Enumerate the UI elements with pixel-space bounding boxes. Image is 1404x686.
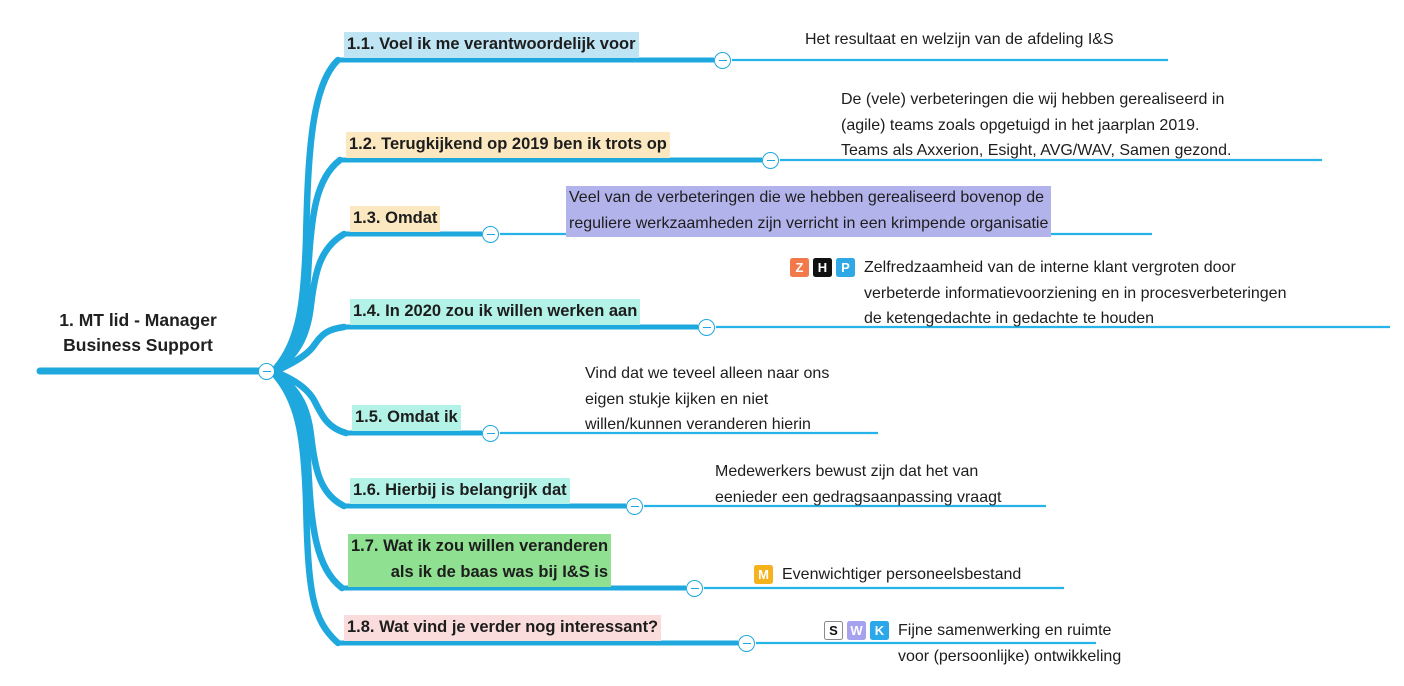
branch-node-1-1[interactable]: 1.1. Voel ik me verantwoordelijk voor: [344, 32, 639, 58]
branch-node-1-6[interactable]: 1.6. Hierbij is belangrijk dat: [350, 478, 570, 504]
leaf-line: (agile) teams zoals opgetuigd in het jaa…: [838, 114, 1234, 140]
collapse-toggle-1-3[interactable]: [482, 226, 499, 243]
branch-label-1-1: 1.1. Voel ik me verantwoordelijk voor: [344, 32, 639, 58]
collapse-toggle-1-6[interactable]: [626, 498, 643, 515]
badge-icon-h[interactable]: H: [813, 258, 832, 277]
leaf-line: Zelfredzaamheid van de interne klant ver…: [861, 256, 1289, 282]
branch-label-1-5: 1.5. Omdat ik: [352, 405, 461, 431]
branch-label-1-2: 1.2. Terugkijkend op 2019 ben ik trots o…: [346, 132, 670, 158]
leaf-line: willen/kunnen veranderen hierin: [582, 413, 832, 439]
leaf-line: Medewerkers bewust zijn dat het van: [712, 460, 1004, 486]
leaf-line: verbeterde informatievoorziening en in p…: [861, 282, 1289, 308]
leaf-node-1-5[interactable]: Vind dat we teveel alleen naar ons eigen…: [582, 362, 832, 439]
branch-label-1-8: 1.8. Wat vind je verder nog interessant?: [344, 615, 661, 641]
leaf-line: Vind dat we teveel alleen naar ons: [582, 362, 832, 388]
branch-label-1-6: 1.6. Hierbij is belangrijk dat: [350, 478, 570, 504]
collapse-toggle-1-7[interactable]: [686, 580, 703, 597]
mindmap-canvas: 1. MT lid - Manager Business Support 1.1…: [0, 0, 1404, 686]
collapse-toggle-1-8[interactable]: [738, 635, 755, 652]
branch-label-1-7-line2: als ik de baas was bij I&S is: [348, 560, 611, 586]
badge-icon-p[interactable]: P: [836, 258, 855, 277]
branch-label-1-4: 1.4. In 2020 zou ik willen werken aan: [350, 299, 640, 325]
badge-icon-m[interactable]: M: [754, 565, 773, 584]
badge-icon-z[interactable]: Z: [790, 258, 809, 277]
leaf-line: Fijne samenwerking en ruimte: [895, 619, 1124, 645]
leaf-line: Teams als Axxerion, Esight, AVG/WAV, Sam…: [838, 139, 1234, 165]
leaf-node-1-2[interactable]: De (vele) verbeteringen die wij hebben g…: [838, 88, 1234, 165]
branch-node-1-4[interactable]: 1.4. In 2020 zou ik willen werken aan: [350, 299, 640, 325]
collapse-toggle-1-1[interactable]: [714, 52, 731, 69]
branch-node-1-2[interactable]: 1.2. Terugkijkend op 2019 ben ik trots o…: [346, 132, 670, 158]
badge-icon-k[interactable]: K: [870, 621, 889, 640]
icon-group-1-7: M: [754, 563, 773, 584]
badge-icon-w[interactable]: W: [847, 621, 866, 640]
collapse-toggle-1-5[interactable]: [482, 425, 499, 442]
branch-label-1-7-line1: 1.7. Wat ik zou willen veranderen: [348, 534, 611, 560]
branch-node-1-5[interactable]: 1.5. Omdat ik: [352, 405, 461, 431]
collapse-toggle-root[interactable]: [258, 363, 275, 380]
leaf-node-1-7[interactable]: M Evenwichtiger personeelsbestand: [754, 563, 1024, 589]
branch-label-1-3: 1.3. Omdat: [350, 206, 440, 232]
branch-node-1-3[interactable]: 1.3. Omdat: [350, 206, 440, 232]
branch-node-1-7[interactable]: 1.7. Wat ik zou willen veranderen als ik…: [348, 534, 611, 587]
icon-group-1-8: S W K: [824, 619, 889, 640]
leaf-line: De (vele) verbeteringen die wij hebben g…: [838, 88, 1234, 114]
leaf-line: Veel van de verbeteringen die we hebben …: [566, 186, 1051, 212]
leaf-line: eenieder een gedragsaanpassing vraagt: [712, 486, 1004, 512]
leaf-line: Het resultaat en welzijn van de afdeling…: [802, 28, 1117, 54]
collapse-toggle-1-4[interactable]: [698, 319, 715, 336]
leaf-line: de ketengedachte in gedachte te houden: [861, 307, 1289, 333]
leaf-node-1-8[interactable]: S W K Fijne samenwerking en ruimte voor …: [824, 619, 1124, 670]
leaf-line: voor (persoonlijke) ontwikkeling: [895, 645, 1124, 671]
icon-group-1-4: Z H P: [790, 256, 855, 277]
leaf-node-1-1[interactable]: Het resultaat en welzijn van de afdeling…: [802, 28, 1117, 54]
leaf-line: Evenwichtiger personeelsbestand: [779, 563, 1024, 589]
badge-icon-s[interactable]: S: [824, 621, 843, 640]
collapse-toggle-1-2[interactable]: [762, 152, 779, 169]
leaf-node-1-6[interactable]: Medewerkers bewust zijn dat het van eeni…: [712, 460, 1004, 511]
leaf-node-1-3[interactable]: Veel van de verbeteringen die we hebben …: [566, 186, 1051, 237]
branch-node-1-8[interactable]: 1.8. Wat vind je verder nog interessant?: [344, 615, 661, 641]
leaf-node-1-4[interactable]: Z H P Zelfredzaamheid van de interne kla…: [790, 256, 1289, 333]
leaf-line: eigen stukje kijken en niet: [582, 388, 832, 414]
root-node[interactable]: 1. MT lid - Manager Business Support: [18, 308, 258, 359]
root-node-line1: 1. MT lid - Manager: [59, 308, 217, 333]
leaf-line: reguliere werkzaamheden zijn verricht in…: [566, 212, 1051, 238]
root-node-line2: Business Support: [63, 333, 213, 358]
